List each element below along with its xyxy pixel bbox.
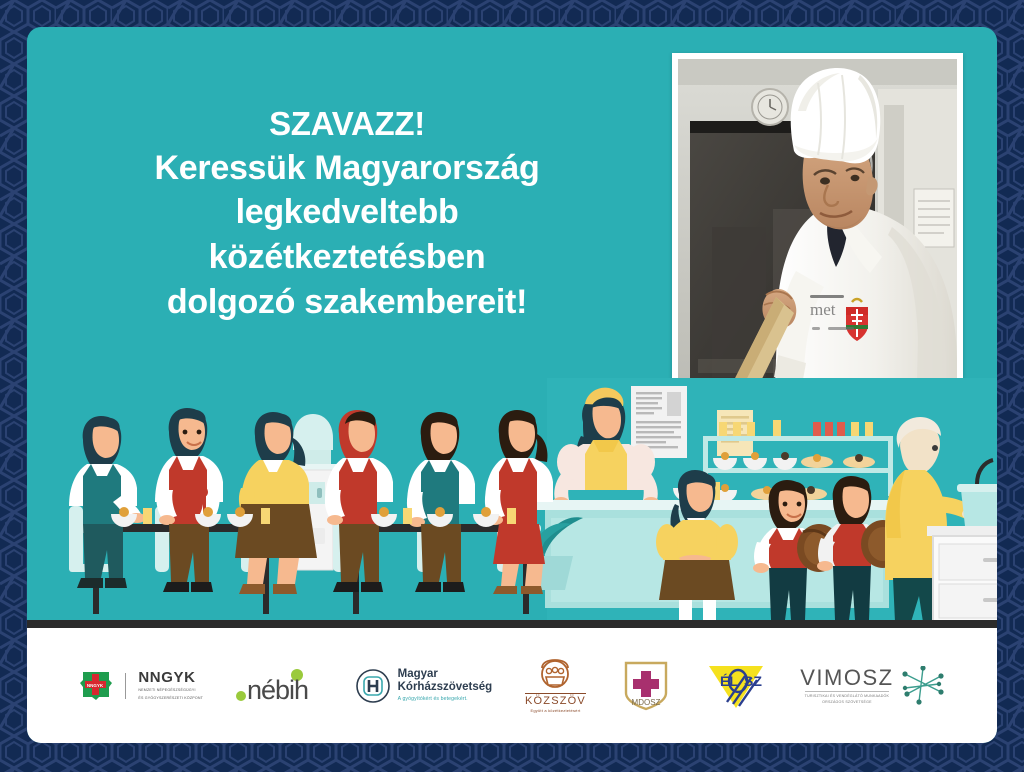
logo-elosz[interactable]: ÉL SZ xyxy=(705,660,767,712)
headline-line-3: legkedveltebb xyxy=(47,190,647,235)
logo-elosz-name: ÉL xyxy=(721,673,739,689)
logo-vimosz-subtitle-2: ORSZÁGOS SZÖVETSÉGE xyxy=(822,700,872,706)
partner-logo-bar: NNGYK NNGYK NEMZETI NÉPEGÉSZSÉGÜGYI ÉS G… xyxy=(27,628,997,743)
page-title: SZAVAZZ! Keressük Magyarország legkedvel… xyxy=(47,102,647,325)
logo-korhaz-name-1: Magyar xyxy=(398,668,493,681)
teal-network-star-icon xyxy=(901,666,945,706)
yellow-triangle-cutlery-icon: ÉL SZ xyxy=(705,660,767,712)
svg-text:SZ: SZ xyxy=(745,673,763,689)
chef-photo: met xyxy=(678,59,957,420)
chef-photo-frame: met xyxy=(672,53,963,426)
logo-kozszov-subtitle: Együtt a közétkeztetésért xyxy=(531,708,581,713)
cafeteria-illustration xyxy=(27,378,997,628)
logo-korhaz-name-2: Kórházszövetség xyxy=(398,681,493,694)
logo-mdosz[interactable]: MDOSZ xyxy=(619,659,673,713)
poster-card: SZAVAZZ! Keressük Magyarország legkedvel… xyxy=(27,27,997,743)
logo-vimosz-name: VIMOSZ xyxy=(800,665,893,691)
headline-line-4: közétkeztetésben xyxy=(47,235,647,280)
logo-nngyk-subtitle-2: ÉS GYÓGYSZERÉSZETI KÖZPONT xyxy=(138,696,203,701)
chef-photo-illustration-icon: met xyxy=(678,59,957,420)
logo-vimosz-subtitle-1: TURISZTIKAI ÉS VENDÉGLÁTÓ MUNKAADÓK xyxy=(805,691,889,700)
logo-korhaz-subtitle: A gyógyítókért és betegekért. xyxy=(398,697,493,703)
headline-line-5: dolgozó szakembereit! xyxy=(47,280,647,325)
headline-line-2: Keressük Magyarország xyxy=(47,146,647,191)
svg-text:met: met xyxy=(810,300,836,319)
logo-kozszov[interactable]: KÖZSZÖV Együtt a közétkeztetésért xyxy=(525,658,586,713)
logo-vimosz[interactable]: VIMOSZ TURISZTIKAI ÉS VENDÉGLÁTÓ MUNKAAD… xyxy=(800,665,944,706)
chef-pot-outline-icon xyxy=(533,658,577,692)
logo-nngyk-name: NNGYK xyxy=(138,670,203,685)
logo-nngyk[interactable]: NNGYK NNGYK NEMZETI NÉPEGÉSZSÉGÜGYI ÉS G… xyxy=(79,670,203,702)
logo-nebih-name: nébih xyxy=(247,675,308,704)
logo-nebih[interactable]: nébih xyxy=(236,668,322,704)
svg-text:NNGYK: NNGYK xyxy=(87,683,104,688)
green-dots-wordmark-icon: nébih xyxy=(236,668,322,704)
gold-shield-magenta-cross-icon: MDOSZ xyxy=(619,659,673,713)
circled-h-monogram-icon xyxy=(355,668,391,704)
logo-kozszov-name: KÖZSZÖV xyxy=(525,693,586,707)
logo-mdosz-name: MDOSZ xyxy=(631,698,660,707)
logo-nngyk-subtitle-1: NEMZETI NÉPEGÉSZSÉGÜGYI xyxy=(138,688,203,693)
cafeteria-scene-icon xyxy=(27,378,997,628)
logo-divider xyxy=(125,673,126,699)
logo-magyar-korhazszovetseg[interactable]: Magyar Kórházszövetség A gyógyítókért és… xyxy=(355,668,493,704)
headline-line-1: SZAVAZZ! xyxy=(47,102,647,146)
red-green-cross-shield-icon: NNGYK xyxy=(79,670,113,702)
dining-table-left xyxy=(69,408,317,614)
